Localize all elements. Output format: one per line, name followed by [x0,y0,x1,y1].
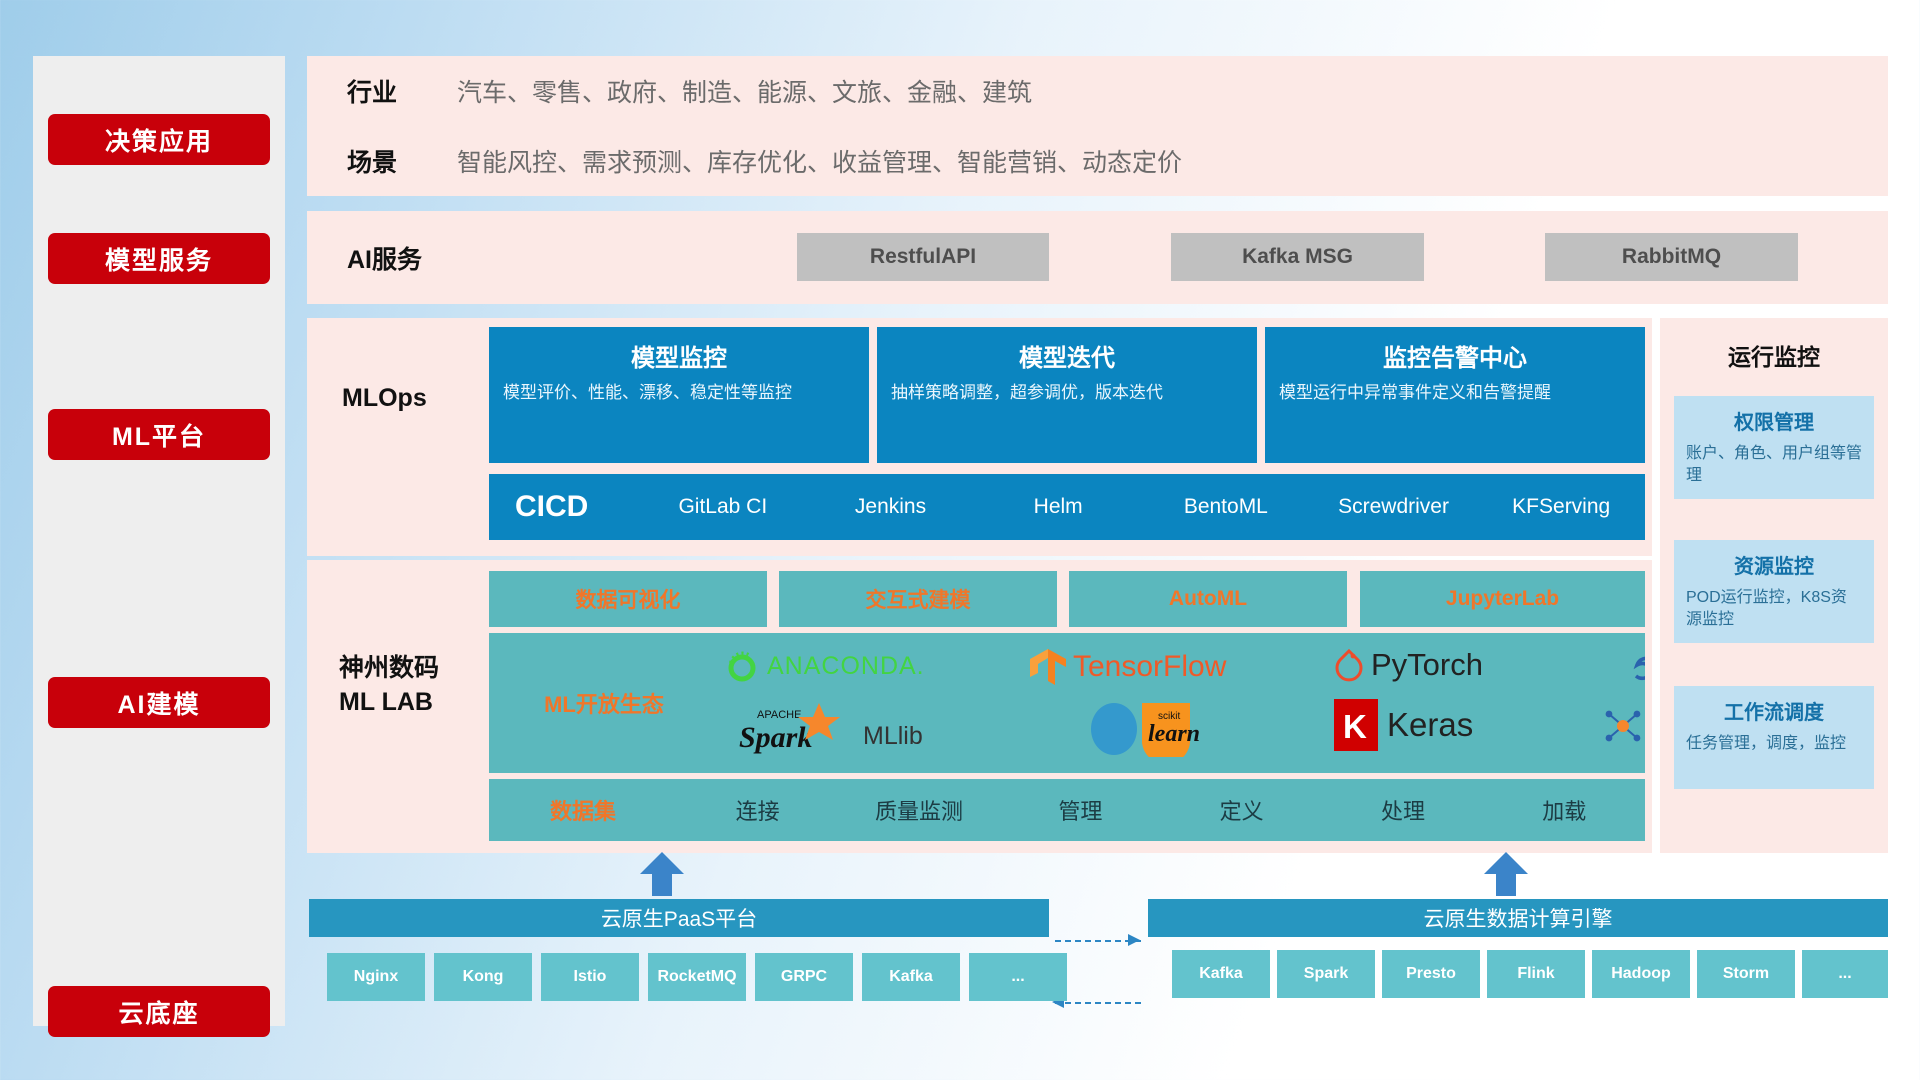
monitor-box-desc: 任务管理，调度，监控 [1686,733,1862,755]
sidebar-item-ml-platform[interactable]: ML平台 [48,409,270,460]
mlops-label: MLOps [342,318,427,478]
mlops-card-alert-center[interactable]: 监控告警中心 模型运行中异常事件定义和告警提醒 [1265,327,1645,463]
runtime-monitor-panel: 运行监控 权限管理 账户、角色、用户组等管理 资源监控 POD运行监控，K8S资… [1660,318,1888,853]
tag-hadoop[interactable]: Hadoop [1592,950,1690,998]
ml-ecosystem-label: ML开放生态 [519,633,689,773]
tensorflow-logo [1029,647,1067,687]
svg-text:K: K [1343,708,1367,745]
tag-storm[interactable]: Storm [1697,950,1795,998]
dataset-item-connect[interactable]: 连接 [677,794,838,826]
anaconda-logo [725,649,759,683]
mlops-card-model-iteration[interactable]: 模型迭代 抽样策略调整，超参调优，版本迭代 [877,327,1257,463]
industry-values: 汽车、零售、政府、制造、能源、文旅、金融、建筑 [457,73,1032,109]
cicd-row: CICD GitLab CI Jenkins Helm BentoML Scre… [489,474,1645,540]
chip-kafka-msg[interactable]: Kafka MSG [1171,233,1424,281]
scenario-values: 智能风控、需求预测、库存优化、收益管理、智能营销、动态定价 [457,143,1182,179]
runtime-monitor-title: 运行监控 [1660,338,1888,372]
logo-tensorflow: TensorFlow [1029,647,1226,687]
ml-lab-label-line1: 神州数码 [339,652,439,686]
monitor-box-title: 工作流调度 [1674,696,1874,725]
tag-spark[interactable]: Spark [1277,950,1375,998]
industry-row: 行业 汽车、零售、政府、制造、能源、文旅、金融、建筑 [307,56,1888,126]
scikit-learn-logo: scikit learn [1084,699,1204,757]
logo-text: TensorFlow [1073,650,1226,684]
ml-lab-label: 神州数码 ML LAB [339,652,439,720]
sas-logo [1629,653,1645,683]
feature-label: 数据可视化 [489,571,767,627]
keras-logo: K [1334,699,1378,751]
ml-lab-panel: 神州数码 ML LAB 数据可视化 交互式建模 AutoML JupyterLa… [307,560,1652,853]
dataset-item-process[interactable]: 处理 [1322,794,1483,826]
ai-service-panel: AI服务 RestfulAPI Kafka MSG RabbitMQ Web服务 [307,211,1888,304]
svg-text:learn: learn [1148,721,1200,747]
tag-grpc[interactable]: GRPC [755,953,853,1001]
monitor-box-permission[interactable]: 权限管理 账户、角色、用户组等管理 [1674,396,1874,499]
sidebar-item-ai-modeling[interactable]: AI建模 [48,677,270,728]
dataset-item-load[interactable]: 加载 [1484,794,1645,826]
scenario-row: 场景 智能风控、需求预测、库存优化、收益管理、智能营销、动态定价 [307,126,1888,196]
sidebar-item-model-service[interactable]: 模型服务 [48,233,270,284]
feature-box-jupyterlab[interactable]: JupyterLab [1360,571,1645,627]
dataset-item-manage[interactable]: 管理 [1000,794,1161,826]
cicd-item-helm[interactable]: Helm [974,495,1142,519]
card-desc: 模型运行中异常事件定义和告警提醒 [1279,382,1631,405]
arrow-up-left-icon [640,852,684,896]
mlops-panel: MLOps 模型监控 模型评价、性能、漂移、稳定性等监控 模型迭代 抽样策略调整… [307,318,1652,556]
cicd-item-screwdriver[interactable]: Screwdriver [1310,495,1478,519]
tag-nginx[interactable]: Nginx [327,953,425,1001]
tag-kafka-left[interactable]: Kafka [862,953,960,1001]
monitor-box-resource[interactable]: 资源监控 POD运行监控，K8S资源监控 [1674,540,1874,643]
feature-box-interactive-modeling[interactable]: 交互式建模 [779,571,1057,627]
arrow-right-icon [1128,932,1144,948]
dataset-item-define[interactable]: 定义 [1161,794,1322,826]
svg-text:Spark: Spark [739,721,812,754]
monitor-box-title: 资源监控 [1674,550,1874,579]
tag-kong[interactable]: Kong [434,953,532,1001]
card-title: 模型迭代 [877,338,1257,373]
logo-networkx: NetworkX Network Analysis in Python [1604,703,1645,748]
feature-label: 交互式建模 [779,571,1057,627]
industry-label: 行业 [307,73,457,109]
monitor-box-desc: 账户、角色、用户组等管理 [1686,443,1862,486]
logo-text: PyTorch [1371,647,1483,683]
feature-label: AutoML [1069,571,1347,627]
logo-spark-mllib: APACHE Spark MLlib [739,701,923,755]
logo-text: MLlib [863,722,923,755]
cicd-item-bentoml[interactable]: BentoML [1142,495,1310,519]
svg-text:APACHE: APACHE [757,709,801,721]
decision-application-panel: 行业 汽车、零售、政府、制造、能源、文旅、金融、建筑 场景 智能风控、需求预测、… [307,56,1888,196]
cicd-label: CICD [489,490,639,524]
tag-flink[interactable]: Flink [1487,950,1585,998]
logo-pytorch: PyTorch [1334,647,1483,683]
monitor-box-workflow[interactable]: 工作流调度 任务管理，调度，监控 [1674,686,1874,789]
dataset-item-quality[interactable]: 质量监测 [838,794,999,826]
logo-text: Keras [1387,706,1473,744]
architecture-diagram: 决策应用 模型服务 ML平台 AI建模 云底座 行业 汽车、零售、政府、制造、能… [0,0,1920,1080]
card-desc: 模型评价、性能、漂移、稳定性等监控 [503,382,855,405]
cicd-item-gitlab[interactable]: GitLab CI [639,495,807,519]
tag-more-left[interactable]: ... [969,953,1067,1001]
feature-box-automl[interactable]: AutoML [1069,571,1347,627]
dataset-row: 数据集 连接 质量监测 管理 定义 处理 加载 [489,779,1645,841]
spark-logo: APACHE Spark [739,701,857,755]
networkx-node-glyph [1604,707,1642,745]
scenario-label: 场景 [307,143,457,179]
layer-rail: 决策应用 模型服务 ML平台 AI建模 云底座 [33,56,285,1026]
paas-platform-bar[interactable]: 云原生PaaS平台 [309,899,1049,937]
card-desc: 抽样策略调整，超参调优，版本迭代 [891,382,1243,405]
sidebar-item-cloud-base[interactable]: 云底座 [48,986,270,1037]
chip-rabbitmq[interactable]: RabbitMQ [1545,233,1798,281]
feature-box-data-visualization[interactable]: 数据可视化 [489,571,767,627]
ai-service-label: AI服务 [347,211,422,304]
monitor-box-desc: POD运行监控，K8S资源监控 [1686,587,1862,630]
cicd-item-jenkins[interactable]: Jenkins [807,495,975,519]
logo-anaconda: ANACONDA. [725,649,925,683]
monitor-box-title: 权限管理 [1674,406,1874,435]
ml-ecosystem-box: ML开放生态 ANACONDA. TensorFlow [489,633,1645,773]
sidebar-item-decision[interactable]: 决策应用 [48,114,270,165]
logo-text: ANACONDA. [767,652,925,681]
pytorch-logo [1334,647,1364,683]
card-title: 监控告警中心 [1265,338,1645,373]
data-engine-bar[interactable]: 云原生数据计算引擎 [1148,899,1888,937]
logo-sas: sas [1629,651,1645,684]
dataset-label: 数据集 [489,794,677,826]
tag-more-right[interactable]: ... [1802,950,1888,998]
tag-kafka-right[interactable]: Kafka [1172,950,1270,998]
ml-lab-label-line2: ML LAB [339,686,439,720]
cicd-item-kfserving[interactable]: KFServing [1477,495,1645,519]
tag-rocketmq[interactable]: RocketMQ [648,953,746,1001]
card-title: 模型监控 [489,338,869,373]
tag-presto[interactable]: Presto [1382,950,1480,998]
tag-istio[interactable]: Istio [541,953,639,1001]
arrow-up-right-icon [1484,852,1528,896]
logo-keras: K Keras [1334,699,1473,751]
chip-restfulapi[interactable]: RestfulAPI [797,233,1049,281]
feature-label: JupyterLab [1360,571,1645,627]
logo-scikit-learn: scikit learn [1084,699,1204,757]
mlops-card-model-monitoring[interactable]: 模型监控 模型评价、性能、漂移、稳定性等监控 [489,327,869,463]
